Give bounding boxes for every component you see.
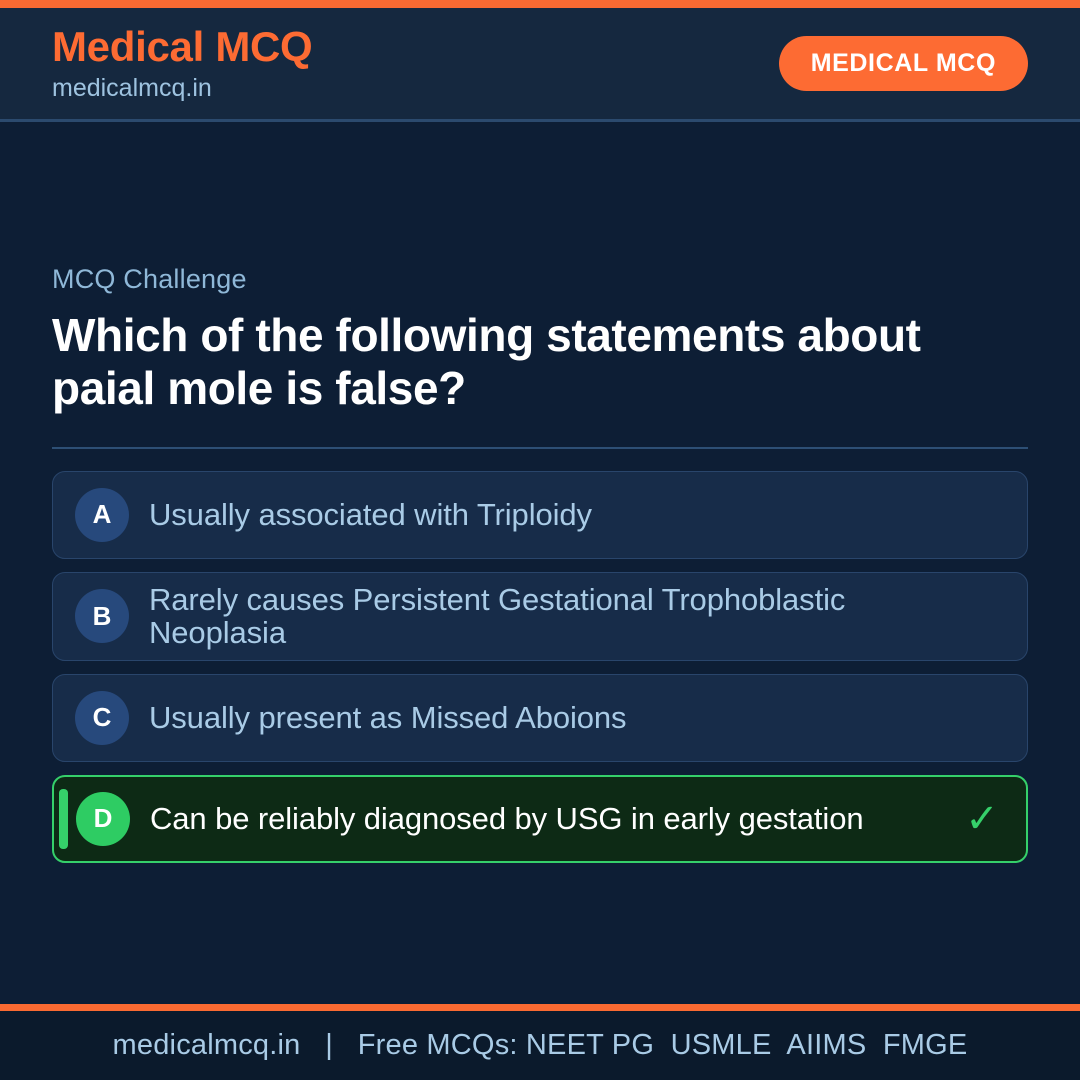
header: Medical MCQ medicalmcq.in MEDICAL MCQ (0, 8, 1080, 122)
brand-block: Medical MCQ medicalmcq.in (52, 26, 312, 101)
option-text-c: Usually present as Missed Aboions (149, 701, 961, 734)
brand-subtitle: medicalmcq.in (52, 76, 312, 101)
medical-mcq-badge: MEDICAL MCQ (779, 36, 1028, 91)
correct-accent-bar (59, 789, 68, 849)
mcq-card: Medical MCQ medicalmcq.in MEDICAL MCQ MC… (0, 0, 1080, 1080)
option-row-a[interactable]: A Usually associated with Triploidy (52, 471, 1028, 559)
footer: medicalmcq.in | Free MCQs: NEET PG USMLE… (0, 1011, 1080, 1080)
footer-accent-bar (0, 1004, 1080, 1011)
checkmark-icon: ✓ (960, 796, 1004, 842)
option-text-d: Can be reliably diagnosed by USG in earl… (150, 802, 960, 835)
footer-text: medicalmcq.in | Free MCQs: NEET PG USMLE… (113, 1029, 968, 1062)
option-letter-b: B (75, 589, 129, 643)
question-text: Which of the following statements about … (52, 309, 1028, 415)
option-letter-d: D (76, 792, 130, 846)
option-text-a: Usually associated with Triploidy (149, 498, 961, 531)
option-letter-a: A (75, 488, 129, 542)
option-letter-c: C (75, 691, 129, 745)
option-text-b: Rarely causes Persistent Gestational Tro… (149, 583, 961, 650)
bottom-spacer (52, 863, 1028, 1004)
option-row-c[interactable]: C Usually present as Missed Aboions (52, 674, 1028, 762)
brand-title: Medical MCQ (52, 26, 312, 68)
option-row-d-correct[interactable]: D Can be reliably diagnosed by USG in ea… (52, 775, 1028, 863)
question-divider (52, 447, 1028, 449)
main-content: MCQ Challenge Which of the following sta… (0, 122, 1080, 1004)
option-row-b[interactable]: B Rarely causes Persistent Gestational T… (52, 572, 1028, 661)
eyebrow-label: MCQ Challenge (52, 264, 1028, 295)
options-list: A Usually associated with Triploidy B Ra… (52, 471, 1028, 863)
top-spacer (52, 122, 1028, 264)
top-accent-bar (0, 0, 1080, 8)
